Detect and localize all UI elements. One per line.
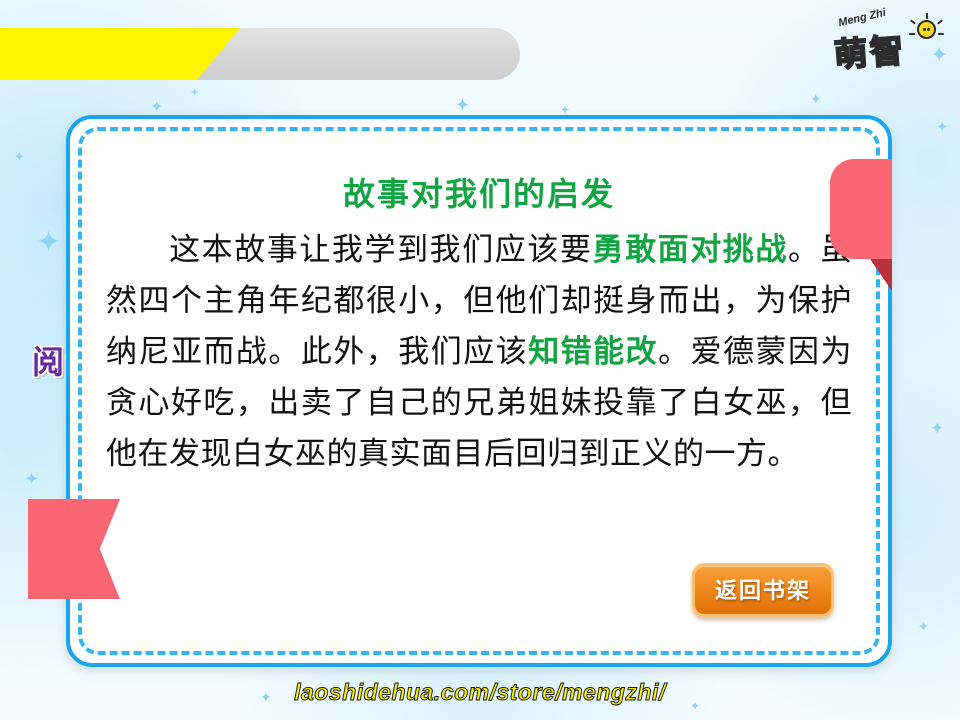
sparkle-icon: ✦ (930, 420, 944, 437)
slide-root: ✦ ✦ ✦ ✦ ✦ ✦ ✦ ✦ ✦ ✦ ✦ ✦ ✦ ✦ 纳尼亚传奇 阅读心得 M… (0, 0, 960, 720)
sparkle-icon: ✦ (918, 620, 929, 633)
back-to-bookshelf-button[interactable]: 返回书架 (692, 563, 834, 617)
reading-reflection-card: 故事对我们的启发 这本故事让我学到我们应该要勇敢面对挑战。虽然四个主角年纪都很小… (66, 115, 892, 667)
ribbon-decoration-right (830, 159, 892, 259)
sparkle-icon: ✦ (190, 88, 199, 99)
section-title: 故事对我们的启发 (100, 169, 858, 215)
sparkle-icon: ✦ (14, 150, 25, 163)
sparkle-icon: ✦ (24, 470, 39, 488)
back-to-bookshelf-label: 返回书架 (715, 578, 811, 603)
card-content: 故事对我们的启发 这本故事让我学到我们应该要勇敢面对挑战。虽然四个主角年纪都很小… (100, 145, 858, 645)
brand-logo: Meng Zhi 萌智 (832, 4, 942, 80)
sparkle-icon: ✦ (36, 228, 61, 258)
sparkle-icon: ✦ (936, 120, 949, 135)
sparkle-icon: ✦ (150, 100, 163, 116)
paragraph-highlight: 勇敢面对挑战 (593, 232, 788, 268)
sun-icon (917, 20, 936, 39)
footer-store-url: laoshidehua.com/store/mengzhi/ (0, 679, 960, 706)
sparkle-icon: ✦ (455, 96, 470, 114)
sparkle-icon: ✦ (810, 92, 822, 106)
paragraph-highlight: 知错能改 (528, 334, 658, 370)
paragraph-segment: 这本故事让我学到我们应该要 (168, 232, 593, 268)
logo-characters: 萌智 (832, 24, 907, 77)
reflection-paragraph: 这本故事让我学到我们应该要勇敢面对挑战。虽然四个主角年纪都很小，但他们却挺身而出… (100, 225, 858, 480)
